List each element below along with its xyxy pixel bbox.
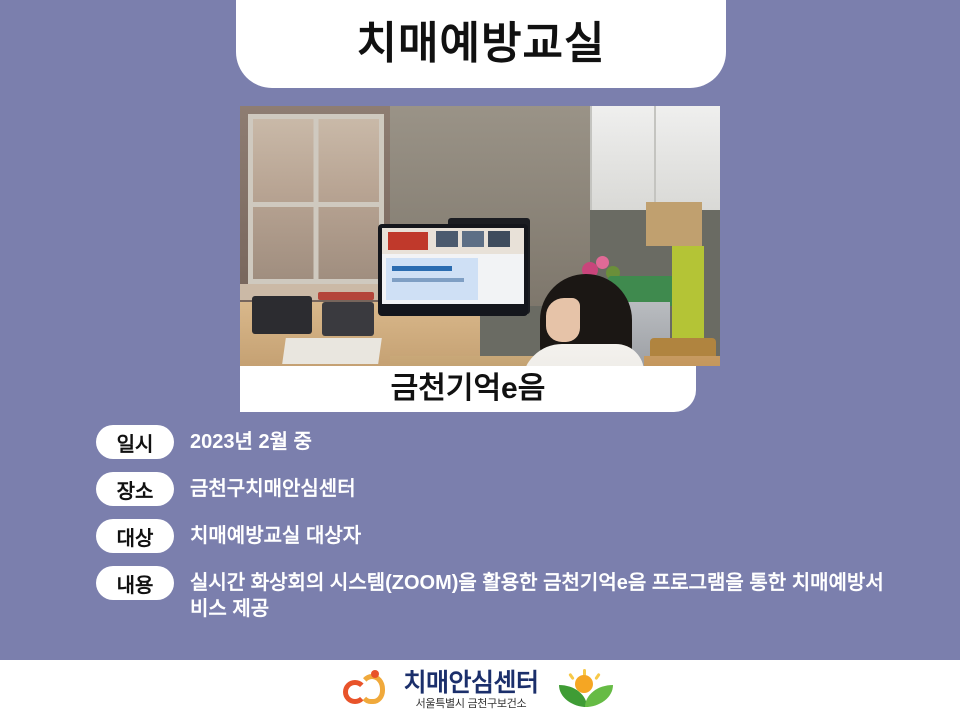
photo-equipment-box-2	[322, 302, 374, 336]
page-title: 치매예방교실	[357, 22, 606, 66]
footer-logo-subtitle: 서울특별시 금천구보건소	[403, 698, 538, 710]
photo-chair	[644, 356, 720, 366]
sun-ray-icon	[594, 673, 600, 680]
dementia-care-ribbon-icon	[343, 670, 395, 710]
photo-papers	[282, 338, 382, 364]
footer-logo-text: 치매안심센터 서울특별시 금천구보건소	[403, 670, 538, 710]
photo-block: 금천기억e음	[240, 106, 720, 411]
info-label-content: 내용	[96, 566, 174, 600]
photo-screen-content	[386, 258, 478, 300]
info-value-date: 2023년 2월 중	[190, 425, 312, 455]
info-label-place: 장소	[96, 472, 174, 506]
geumcheon-sun-leaf-icon	[557, 669, 617, 711]
footer-logo-title: 치매안심센터	[403, 670, 538, 698]
photo-screen-tile	[436, 231, 458, 247]
photo-caption: 금천기억e음	[391, 374, 546, 404]
photo-person-face	[546, 298, 580, 342]
photo-upper-cabinet	[590, 106, 720, 210]
info-row-place: 장소 금천구치매안심센터	[96, 472, 896, 506]
info-value-target: 치매예방교실 대상자	[190, 519, 361, 549]
photo-online-class-participant	[240, 106, 720, 366]
info-list: 일시 2023년 2월 중 장소 금천구치매안심센터 대상 치매예방교실 대상자…	[96, 425, 896, 635]
photo-window	[248, 114, 384, 284]
photo-screen-tile	[488, 231, 510, 247]
photo-equipment-box-1	[252, 296, 312, 334]
slide-root: 치매예방교실	[0, 0, 960, 720]
photo-monitor	[378, 224, 528, 316]
photo-flower-light-pink	[596, 256, 609, 269]
ribbon-right-loop-icon	[359, 674, 385, 704]
photo-screen-tile	[462, 231, 484, 247]
photo-equipment-red-strip	[318, 292, 374, 300]
photo-caption-banner: 금천기억e음	[240, 366, 696, 412]
sun-ray-icon	[568, 673, 574, 680]
photo-screen-red-banner	[388, 232, 428, 250]
info-row-content: 내용 실시간 화상회의 시스템(ZOOM)을 활용한 금천기억e음 프로그램을 …	[96, 566, 896, 622]
info-value-place: 금천구치매안심센터	[190, 472, 356, 502]
photo-cardboard-box	[646, 202, 702, 246]
info-label-target: 대상	[96, 519, 174, 553]
footer-bar: 치매안심센터 서울특별시 금천구보건소	[0, 660, 960, 720]
info-row-target: 대상 치매예방교실 대상자	[96, 519, 896, 553]
info-value-content: 실시간 화상회의 시스템(ZOOM)을 활용한 금천기억e음 프로그램을 통한 …	[190, 566, 890, 622]
info-label-date: 일시	[96, 425, 174, 459]
footer-logos: 치매안심센터 서울특별시 금천구보건소	[343, 669, 616, 711]
info-row-date: 일시 2023년 2월 중	[96, 425, 896, 459]
photo-monitor-screen	[382, 228, 524, 304]
title-banner: 치매예방교실	[236, 0, 726, 88]
